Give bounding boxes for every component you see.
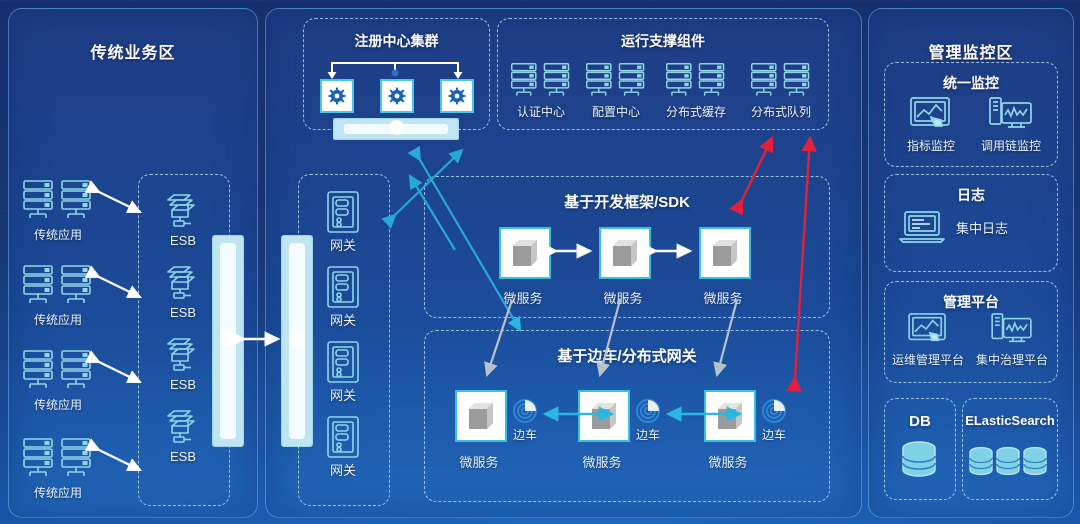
runtime-item-cache: 分布式缓存 bbox=[653, 62, 739, 120]
sdk-service-1-label: 微服务 bbox=[483, 288, 563, 307]
platform-item-governance-label: 集中治理平台 bbox=[968, 351, 1056, 368]
db-icon-wrap bbox=[897, 438, 941, 486]
logging-title: 日志 bbox=[885, 185, 1057, 205]
monitoring-item-trace-label: 调用链监控 bbox=[969, 137, 1053, 154]
sdk-service-3-tile bbox=[699, 227, 751, 279]
architecture-diagram: 传统业务区 传统应用 bbox=[0, 0, 1080, 524]
esb-item-3-label: ESB bbox=[152, 377, 214, 392]
server-stack-icon bbox=[750, 62, 812, 100]
server-stack-icon bbox=[22, 180, 94, 222]
runtime-item-config: 配置中心 bbox=[578, 62, 654, 120]
sidecar-zone-title: 基于边车/分布式网关 bbox=[425, 345, 829, 366]
monitoring-item-metrics-label: 指标监控 bbox=[891, 137, 971, 154]
logging-item-central-label: 集中日志 bbox=[956, 218, 1008, 237]
server-stack-icon bbox=[22, 438, 94, 480]
sidecar-3: 边车 bbox=[757, 398, 791, 442]
sidecar-icon bbox=[761, 398, 787, 424]
gateway-icon bbox=[326, 340, 360, 384]
sidecar-service-2-label: 微服务 bbox=[562, 452, 642, 471]
panel-management-monitoring-title: 管理监控区 bbox=[869, 39, 1073, 63]
legacy-app-4-label: 传统应用 bbox=[18, 484, 98, 501]
gateway-item-2-label: 网关 bbox=[310, 310, 376, 329]
gear-icon bbox=[388, 87, 406, 105]
gear-icon bbox=[328, 87, 346, 105]
gateway-item-1-label: 网关 bbox=[310, 235, 376, 254]
runtime-item-queue: 分布式队列 bbox=[738, 62, 824, 120]
gateway-icon bbox=[326, 265, 360, 309]
esb-item-4-label: ESB bbox=[152, 449, 214, 464]
gateway-bus-connector bbox=[289, 331, 304, 346]
sidecar-3-label: 边车 bbox=[749, 426, 799, 443]
sidecar-2: 边车 bbox=[631, 398, 665, 442]
registry-node-2 bbox=[380, 79, 414, 113]
server-stack-icon bbox=[22, 350, 94, 392]
esb-item-1-label: ESB bbox=[152, 233, 214, 248]
monitoring-item-trace: 调用链监控 bbox=[969, 96, 1053, 156]
trace-monitor-icon bbox=[988, 96, 1034, 132]
cube-icon bbox=[610, 238, 640, 268]
elasticsearch-title: ELasticSearch bbox=[963, 413, 1057, 428]
esb-icon bbox=[162, 334, 204, 376]
runtime-item-auth: 认证中心 bbox=[503, 62, 579, 120]
gateway-item-4-label: 网关 bbox=[310, 460, 376, 479]
governance-platform-icon bbox=[989, 312, 1035, 346]
gear-icon bbox=[448, 87, 466, 105]
sidecar-service-3-label: 微服务 bbox=[688, 452, 768, 471]
runtime-item-cache-label: 分布式缓存 bbox=[653, 103, 739, 120]
registry-bus-connector bbox=[389, 120, 404, 135]
legacy-app-2: 传统应用 bbox=[22, 265, 102, 325]
platform-item-governance: 集中治理平台 bbox=[968, 312, 1056, 372]
database-icon bbox=[897, 438, 941, 486]
registry-cluster-title: 注册中心集群 bbox=[304, 31, 489, 51]
sidecar-2-label: 边车 bbox=[623, 426, 673, 443]
sidecar-1-label: 边车 bbox=[500, 426, 550, 443]
esb-item-2: ESB bbox=[152, 262, 214, 324]
database-cluster-icon bbox=[968, 442, 1050, 486]
legacy-app-3-label: 传统应用 bbox=[18, 396, 98, 413]
cube-icon bbox=[589, 401, 619, 431]
monitoring-item-metrics: 指标监控 bbox=[891, 96, 971, 156]
legacy-app-1-label: 传统应用 bbox=[18, 226, 98, 243]
esb-item-1: ESB bbox=[152, 190, 214, 252]
cube-icon bbox=[466, 401, 496, 431]
sidecar-icon bbox=[635, 398, 661, 424]
logging-item-central: 集中日志 bbox=[898, 204, 1048, 250]
db-title: DB bbox=[885, 413, 955, 430]
esb-item-3: ESB bbox=[152, 334, 214, 396]
sidecar-1: 边车 bbox=[508, 398, 542, 442]
legacy-app-3: 传统应用 bbox=[22, 350, 102, 410]
sdk-zone-title: 基于开发框架/SDK bbox=[425, 191, 829, 212]
gateway-item-2: 网关 bbox=[310, 265, 376, 327]
legacy-app-1: 传统应用 bbox=[22, 180, 102, 240]
sidecar-service-1-label: 微服务 bbox=[439, 452, 519, 471]
laptop-log-icon bbox=[898, 209, 946, 245]
unified-monitoring-title: 统一监控 bbox=[885, 73, 1057, 93]
runtime-item-queue-label: 分布式队列 bbox=[738, 103, 824, 120]
registry-node-1 bbox=[320, 79, 354, 113]
platform-item-ops: 运维管理平台 bbox=[884, 312, 972, 372]
legacy-app-4: 传统应用 bbox=[22, 438, 102, 498]
server-stack-icon bbox=[22, 265, 94, 307]
gateway-item-3-label: 网关 bbox=[310, 385, 376, 404]
cube-icon bbox=[710, 238, 740, 268]
server-stack-icon bbox=[665, 62, 727, 100]
cube-icon bbox=[715, 401, 745, 431]
panel-legacy-business-title: 传统业务区 bbox=[9, 39, 257, 63]
gateway-icon bbox=[326, 415, 360, 459]
metrics-monitor-icon bbox=[909, 96, 953, 132]
ops-platform-icon bbox=[906, 312, 950, 346]
gateway-item-3: 网关 bbox=[310, 340, 376, 402]
sdk-service-3-label: 微服务 bbox=[683, 288, 763, 307]
sidecar-icon bbox=[512, 398, 538, 424]
elasticsearch-icon-wrap bbox=[968, 442, 1050, 486]
esb-item-2-label: ESB bbox=[152, 305, 214, 320]
registry-node-3 bbox=[440, 79, 474, 113]
server-stack-icon bbox=[510, 62, 572, 100]
esb-item-4: ESB bbox=[152, 406, 214, 468]
esb-icon bbox=[162, 262, 204, 304]
management-platform-title: 管理平台 bbox=[885, 292, 1057, 312]
server-stack-icon bbox=[585, 62, 647, 100]
gateway-item-4: 网关 bbox=[310, 415, 376, 477]
sdk-service-1-tile bbox=[499, 227, 551, 279]
runtime-item-config-label: 配置中心 bbox=[578, 103, 654, 120]
legacy-app-2-label: 传统应用 bbox=[18, 311, 98, 328]
runtime-components-title: 运行支撑组件 bbox=[498, 31, 828, 51]
gateway-item-1: 网关 bbox=[310, 190, 376, 252]
cube-icon bbox=[510, 238, 540, 268]
esb-bus-connector bbox=[220, 331, 235, 346]
platform-item-ops-label: 运维管理平台 bbox=[884, 351, 972, 368]
runtime-item-auth-label: 认证中心 bbox=[503, 103, 579, 120]
esb-icon bbox=[162, 406, 204, 448]
sdk-service-2-tile bbox=[599, 227, 651, 279]
esb-icon bbox=[162, 190, 204, 232]
gateway-icon bbox=[326, 190, 360, 234]
sdk-service-2-label: 微服务 bbox=[583, 288, 663, 307]
